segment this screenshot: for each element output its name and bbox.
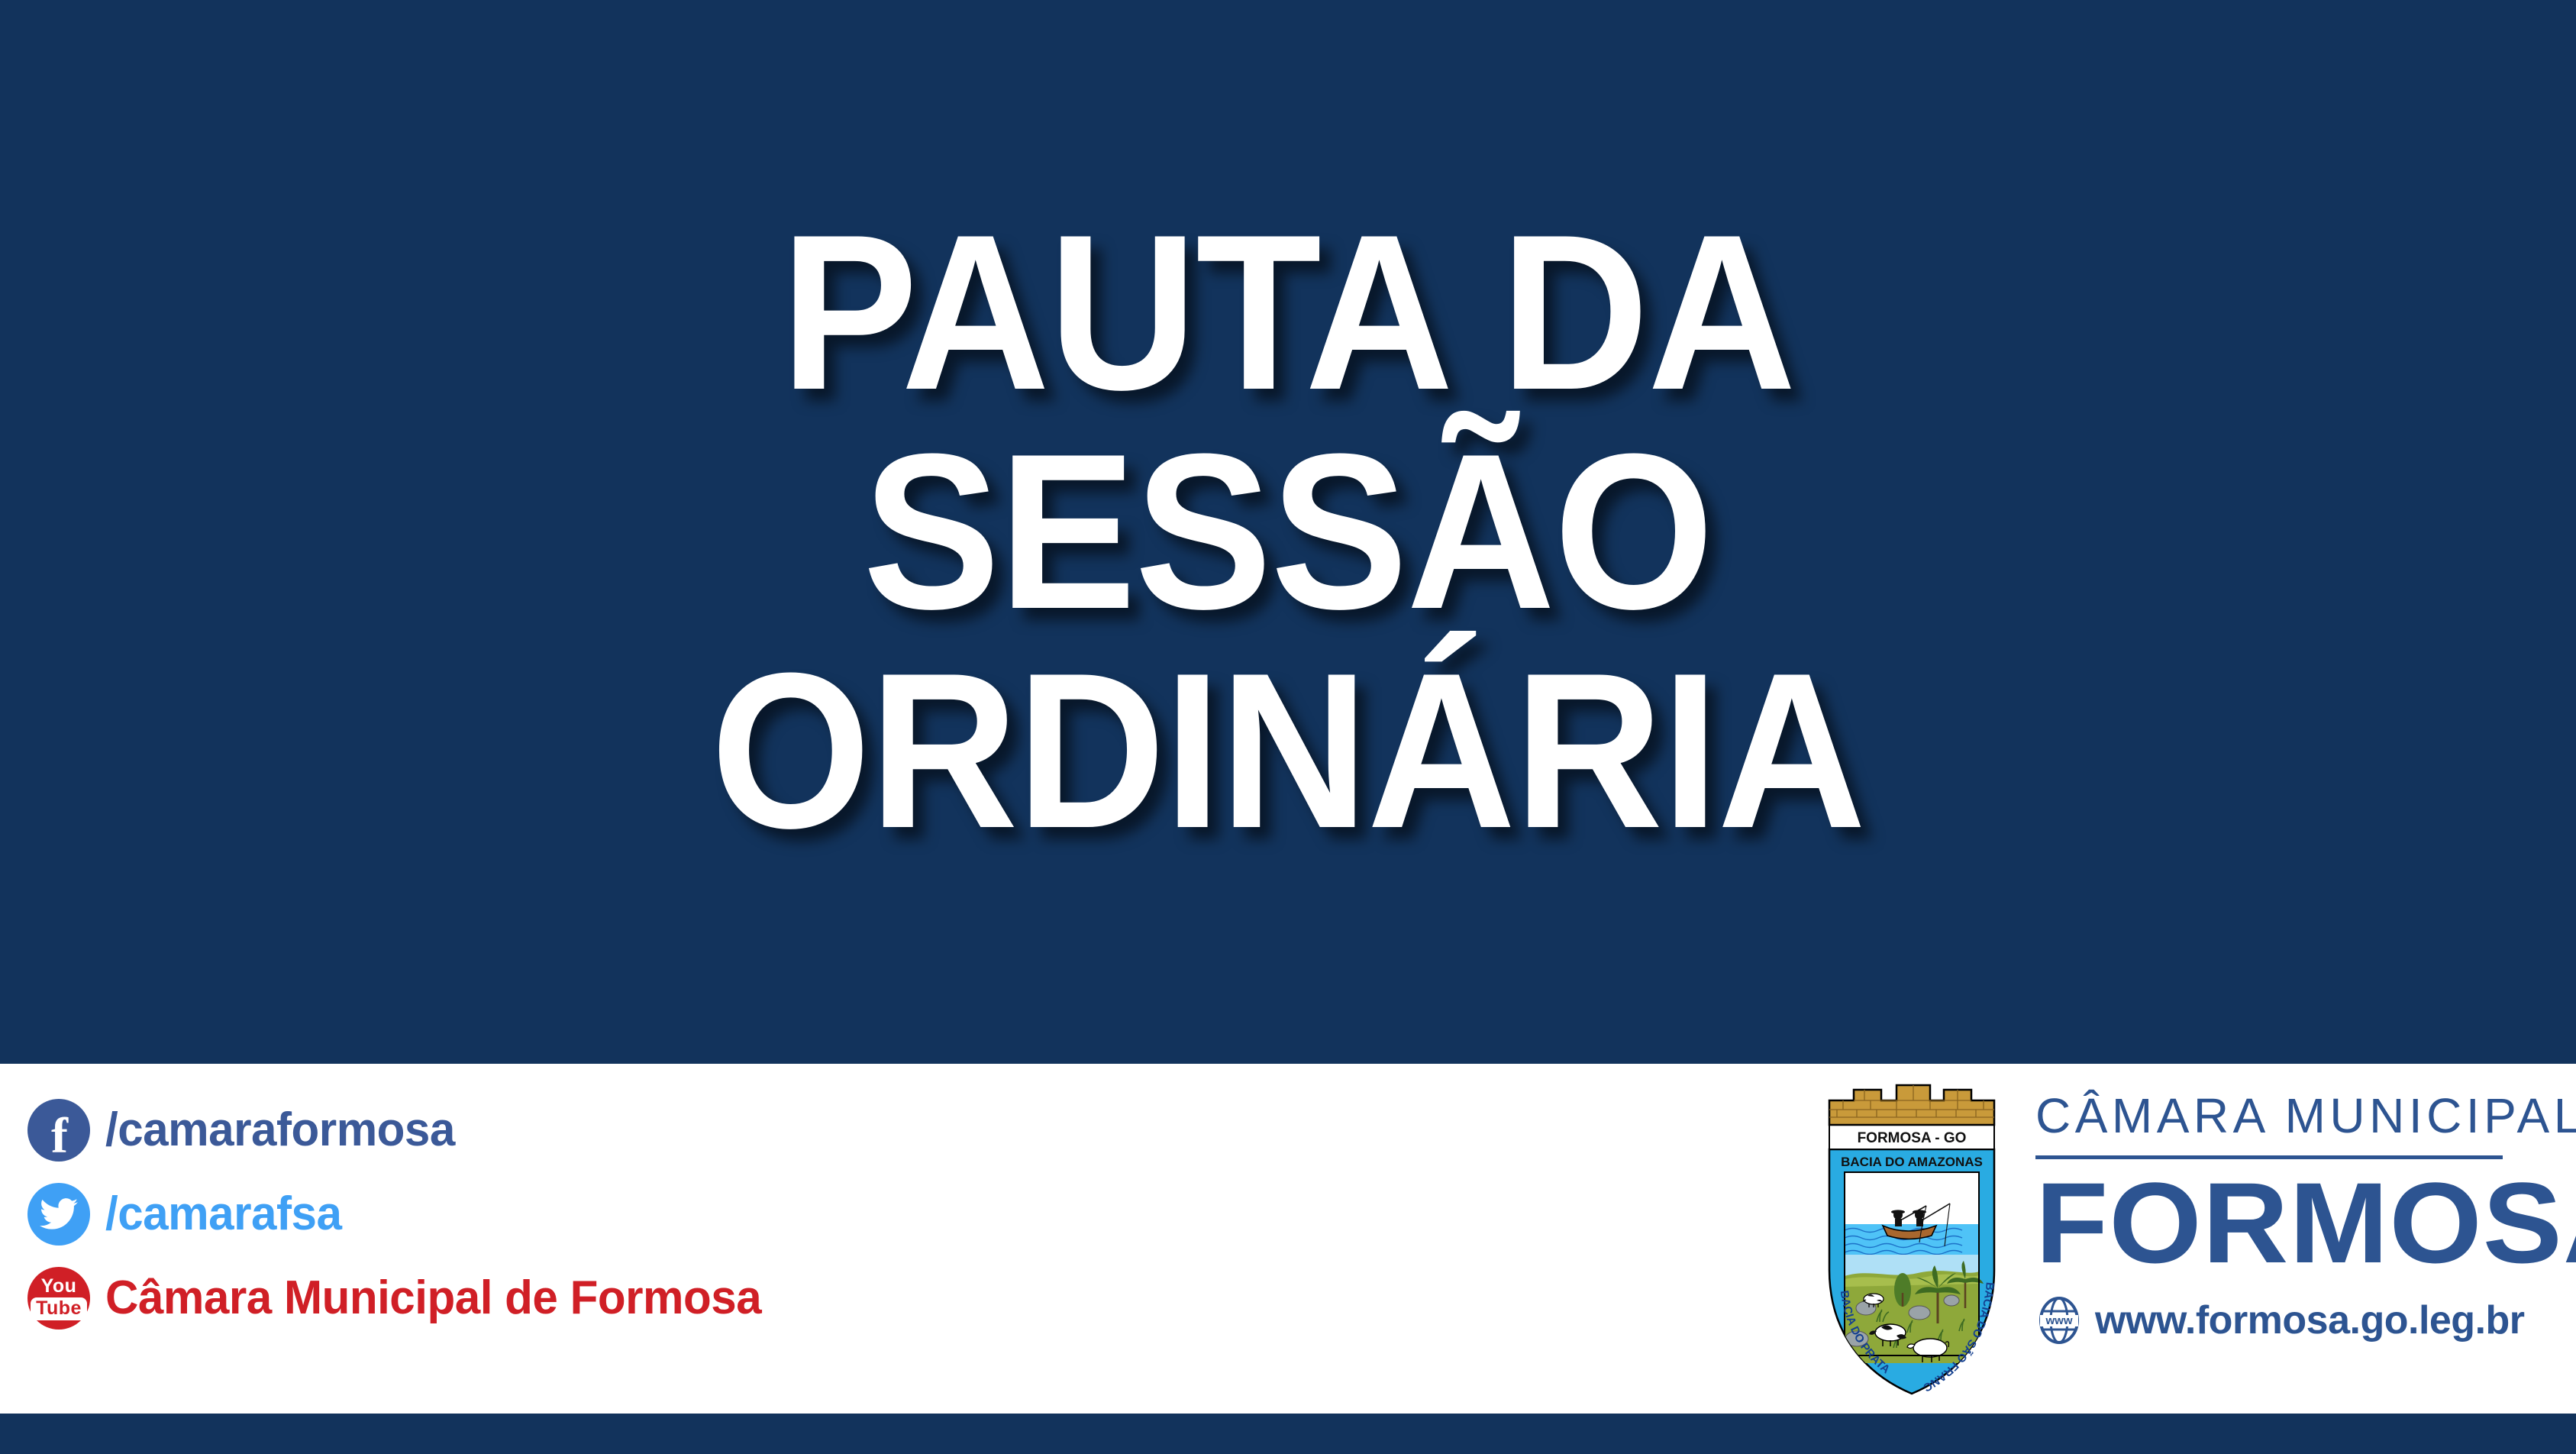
crest-mural-crown — [1829, 1085, 1994, 1125]
globe-www-label: www — [2045, 1314, 2072, 1327]
title-line-3: ORDINÁRIA — [711, 641, 1865, 861]
facebook-handle[interactable]: /camaraformosa — [105, 1107, 455, 1154]
title-line-1: PAUTA DA — [711, 203, 1865, 422]
social-row-youtube[interactable]: You Tube Câmara Municipal de Formosa — [27, 1256, 1173, 1340]
social-links: f /camaraformosa /camarafsa You Tube Câm… — [27, 1088, 1173, 1340]
crest-city-label: FORMOSA - GO — [1858, 1130, 1967, 1146]
youtube-handle[interactable]: Câmara Municipal de Formosa — [105, 1275, 761, 1322]
facebook-glyph: f — [51, 1111, 68, 1162]
social-row-twitter[interactable]: /camarafsa — [27, 1172, 1173, 1256]
title-line-2: SESSÃO — [711, 422, 1865, 641]
shield-field — [1845, 1172, 1984, 1363]
brand-logo: FORMOSA - GO BACIA DO AMAZONAS BACIA DO … — [1823, 1073, 2556, 1409]
page-title: PAUTA DA SESSÃO ORDINÁRIA — [711, 203, 1865, 861]
youtube-glyph: You Tube — [31, 1277, 87, 1320]
twitter-bird-glyph — [40, 1198, 78, 1230]
facebook-icon[interactable]: f — [27, 1099, 90, 1162]
brand-wordmark: CÂMARA MUNICIPAL FORMOSA www www.formosa… — [2035, 1091, 2539, 1344]
website-row[interactable]: www www.formosa.go.leg.br — [2035, 1297, 2539, 1344]
poster-canvas: PAUTA DA SESSÃO ORDINÁRIA f /camaraformo… — [0, 0, 2576, 1454]
hero-section: PAUTA DA SESSÃO ORDINÁRIA — [0, 0, 2576, 1064]
brand-title-line2: FORMOSA — [2035, 1165, 2559, 1280]
youtube-you-text: You — [41, 1277, 77, 1296]
brand-title-line1: CÂMARA MUNICIPAL — [2035, 1091, 2539, 1140]
coat-of-arms: FORMOSA - GO BACIA DO AMAZONAS BACIA DO … — [1823, 1079, 2000, 1400]
website-url[interactable]: www.formosa.go.leg.br — [2095, 1301, 2525, 1340]
social-row-facebook[interactable]: f /camaraformosa — [27, 1088, 1173, 1172]
twitter-handle[interactable]: /camarafsa — [105, 1191, 341, 1238]
crest-basin-top: BACIA DO AMAZONAS — [1841, 1155, 1983, 1169]
twitter-icon[interactable] — [27, 1183, 90, 1246]
youtube-tube-text: Tube — [31, 1297, 87, 1320]
globe-www-icon: www — [2035, 1297, 2083, 1344]
bottom-strip — [0, 1414, 2576, 1454]
youtube-icon[interactable]: You Tube — [27, 1267, 90, 1330]
